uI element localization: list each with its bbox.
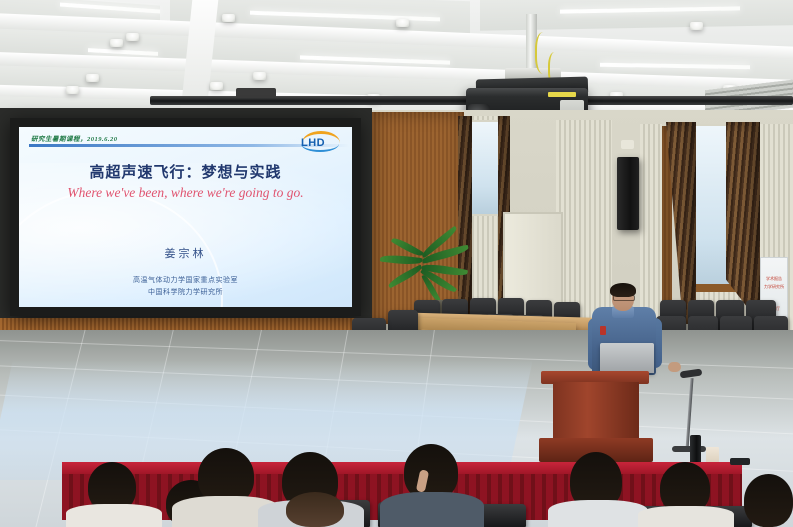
poster-line2: 力学研究所	[761, 284, 787, 289]
ribbed-wall-panel	[640, 124, 662, 324]
downlight	[253, 72, 266, 80]
roller-bracket	[236, 88, 276, 98]
slide-author: 姜宗林	[19, 245, 352, 261]
slide-header-note: 研究生暑期课程，2019.6.20	[31, 133, 118, 143]
speaker-badge	[600, 326, 606, 335]
speaker-glasses	[613, 295, 635, 301]
projection-screen: 研究生暑期课程，2019.6.20 LHD 高超声速飞行：梦想与实践 Where…	[10, 118, 361, 316]
speaker-hand	[668, 362, 681, 372]
logo-wave-icon	[301, 144, 339, 152]
slide-affiliation-line2: 中国科学院力学研究所	[19, 287, 352, 297]
lecture-hall-photo: 研究生暑期课程，2019.6.20 LHD 高超声速飞行：梦想与实践 Where…	[0, 0, 793, 527]
slide-subtitle: Where we've been, where we're going to g…	[19, 185, 352, 201]
podium-body	[553, 382, 639, 442]
projector-label-sticker	[548, 92, 576, 97]
slide-title: 高超声速飞行：梦想与实践	[19, 161, 352, 182]
phone-on-table	[730, 458, 750, 465]
downlight	[222, 14, 235, 22]
downlight	[126, 33, 139, 41]
downlight	[210, 82, 223, 90]
presentation-slide: 研究生暑期课程，2019.6.20 LHD 高超声速飞行：梦想与实践 Where…	[19, 127, 352, 307]
downlight	[86, 74, 99, 82]
poster-line1: 学术报告	[761, 276, 787, 281]
wall-sensor	[621, 140, 634, 149]
downlight	[396, 19, 409, 27]
wall-loudspeaker	[617, 157, 639, 230]
downlight	[110, 39, 123, 47]
lhd-logo: LHD	[296, 130, 344, 154]
slide-affiliation-line1: 高温气体动力学国家重点实验室	[19, 275, 352, 285]
downlight	[690, 22, 703, 30]
laptop[interactable]: ⌘	[600, 343, 654, 373]
ribbed-wall-panel	[556, 120, 612, 324]
downlight	[66, 86, 79, 94]
